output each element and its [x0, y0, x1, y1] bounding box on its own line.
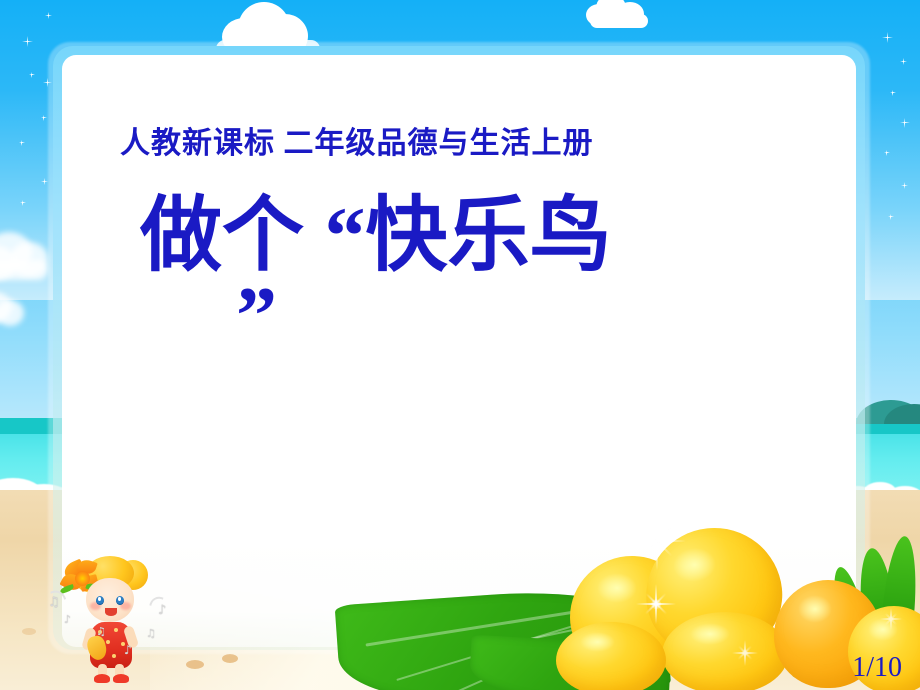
page-indicator: 1/10 — [852, 652, 902, 684]
slide-title: 做个 “快乐鸟 ” — [140, 196, 780, 357]
mango-icon — [662, 612, 788, 690]
mango-icon — [556, 622, 666, 690]
slide-subtitle: 人教新课标 二年级品德与生活上册 — [120, 118, 594, 162]
music-note-icon: ♪ — [124, 644, 132, 656]
music-note-icon: ♪ — [64, 614, 71, 625]
slide-title-line-1: 做个 “快乐鸟 — [140, 196, 780, 276]
girl-character-icon — [72, 556, 150, 684]
slide-title-line-2: ” — [236, 276, 780, 356]
music-note-icon: ♫ — [146, 628, 156, 639]
slide-canvas: 人教新课标 二年级品德与生活上册 做个 “快乐鸟 ” — [0, 0, 920, 690]
music-note-icon: ♫ — [96, 626, 106, 637]
